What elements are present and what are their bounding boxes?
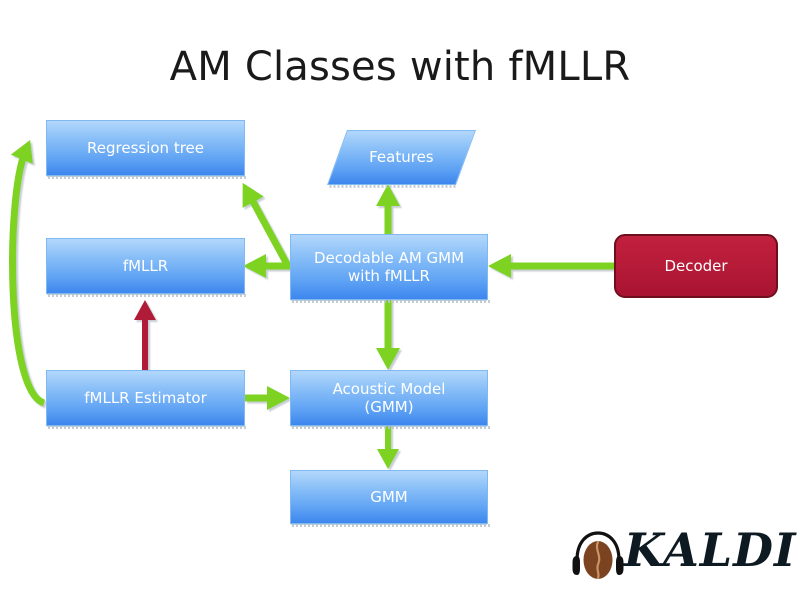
slide-canvas: AM Classes with fMLLR — [0, 0, 800, 599]
node-label: Features — [363, 148, 440, 166]
node-gmm[interactable]: GMM — [290, 470, 488, 524]
kaldi-logo: KALDI — [566, 524, 790, 592]
node-fmllr[interactable]: fMLLR — [46, 238, 245, 294]
node-decoder[interactable]: Decoder — [614, 234, 778, 298]
edge-acoustic-model-to-gmm — [377, 424, 399, 469]
edge-decoder-to-decodable — [488, 254, 614, 278]
edge-decodable-to-fmllr — [243, 254, 290, 278]
node-fmllr-estimator[interactable]: fMLLR Estimator — [46, 370, 245, 426]
page-title: AM Classes with fMLLR — [0, 44, 800, 90]
node-decodable-am-gmm[interactable]: Decodable AM GMM with fMLLR — [290, 234, 488, 300]
node-acoustic-model[interactable]: Acoustic Model (GMM) — [290, 370, 488, 426]
edge-decodable-to-acoustic-model — [376, 300, 400, 370]
node-label: Decoder — [658, 257, 733, 275]
coffee-bean-headphones-icon — [566, 526, 630, 590]
edge-decodable-to-features — [376, 184, 400, 234]
node-label-line1: Acoustic Model — [327, 380, 452, 398]
edge-fmllr-estimator-to-acoustic-model — [245, 386, 290, 410]
edge-fmllr-estimator-to-regression-tree — [11, 135, 44, 403]
edge-fmllr-estimator-to-fmllr — [134, 300, 156, 370]
node-label: fMLLR — [117, 257, 174, 275]
node-label-line2: (GMM) — [358, 398, 419, 416]
kaldi-wordmark: KALDI — [624, 527, 797, 573]
node-regression-tree[interactable]: Regression tree — [46, 120, 245, 176]
node-label: Regression tree — [81, 139, 210, 157]
node-label-line1: Decodable AM GMM — [308, 249, 470, 267]
node-label: fMLLR Estimator — [78, 389, 213, 407]
node-label-line2: with fMLLR — [342, 267, 436, 285]
node-label: GMM — [364, 488, 414, 506]
node-features[interactable]: Features — [327, 130, 476, 185]
